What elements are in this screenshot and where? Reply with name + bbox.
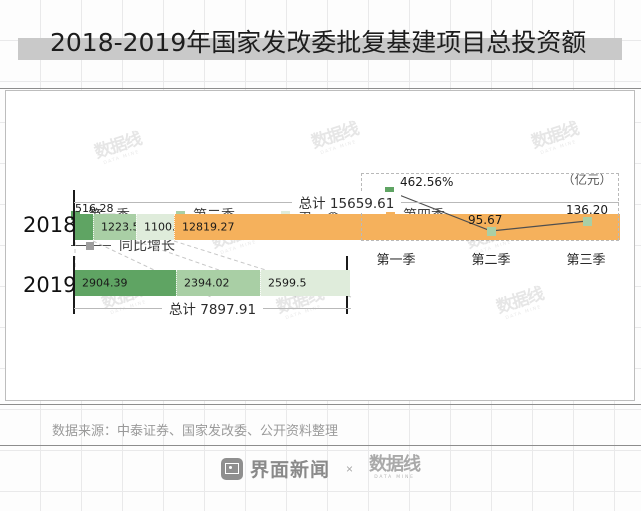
inset-category-label-q3: 第三季: [551, 249, 621, 268]
bar-value-label: 1223.5: [101, 221, 140, 234]
category-label-2018: 2018: [23, 213, 73, 237]
divider-top: [0, 88, 641, 89]
total-text: 总计 7897.91: [162, 298, 263, 318]
source-note: 数据来源：中泰证券、国家发改委、公开资料整理: [52, 420, 338, 439]
bar-segment-2019-q3[interactable]: 2599.5: [260, 270, 350, 296]
line-data-label-q3: 136.20: [566, 203, 608, 217]
bar-segment-2018-q3[interactable]: 1100.56: [136, 214, 174, 240]
brand-right-subtext: DATA MINE: [369, 476, 420, 481]
bar-value-label: 12819.27: [182, 221, 235, 234]
divider-bottom: [0, 445, 641, 446]
bar-segment-2019-q2[interactable]: 2394.02: [176, 270, 260, 296]
bar-segment-2018-q1[interactable]: 516.28: [75, 214, 93, 240]
bar-segment-2018-q2[interactable]: 1223.5: [93, 214, 136, 240]
total-text: 总计 15659.61: [292, 192, 402, 212]
total-label-2019: 总计 7897.91: [74, 298, 351, 318]
jiemian-logo-icon: [221, 458, 243, 480]
divider-middle: [0, 404, 641, 405]
line-data-label-q2: 95.67: [468, 213, 502, 227]
brand-right-text: 数据线: [369, 454, 420, 475]
bar-value-label: 2394.02: [184, 277, 230, 290]
bar-value-label: 2599.5: [268, 277, 307, 290]
bar-chart-plot: 2018 2019 516.28 1223.5 1100.56 12819.27…: [6, 91, 636, 402]
brand-name-left: 界面新闻: [250, 455, 330, 482]
page-title: 2018-2019年国家发改委批复基建项目总投资额: [50, 23, 610, 59]
inset-category-label-q1: 第一季: [361, 249, 431, 268]
bar-2019[interactable]: 2904.39 2394.02 2599.5: [75, 270, 350, 296]
segment-connector-lines: [6, 91, 636, 402]
chart-card: 数据线DATA MINE 数据线DATA MINE 数据线DATA MINE 数…: [5, 90, 635, 401]
brand-footer: 界面新闻 × 数据线 DATA MINE: [0, 455, 641, 482]
brand-name-right: 数据线 DATA MINE: [369, 456, 420, 481]
line-marker-q2: [487, 227, 496, 236]
brand-separator: ×: [346, 462, 353, 476]
line-marker-q3: [583, 217, 592, 226]
bar-value-label: 2904.39: [82, 277, 128, 290]
inset-category-label-q2: 第二季: [456, 249, 526, 268]
bar-segment-2019-q1[interactable]: 2904.39: [75, 270, 176, 296]
category-label-2019: 2019: [23, 273, 73, 297]
line-data-label-q1: 462.56%: [400, 175, 453, 189]
